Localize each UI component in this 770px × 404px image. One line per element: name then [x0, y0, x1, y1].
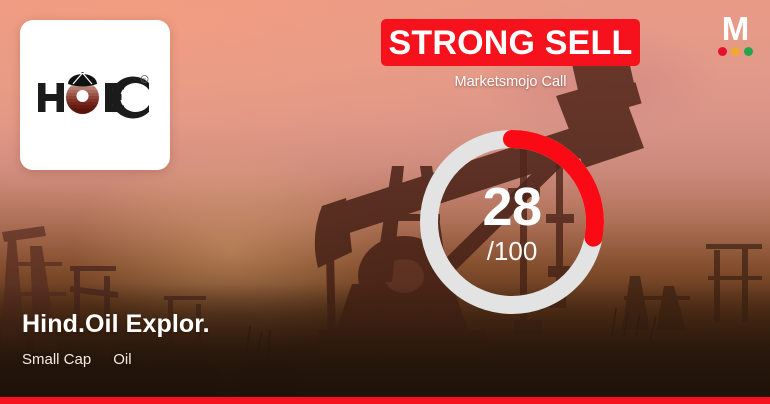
call-badge: STRONG SELL	[381, 19, 640, 66]
brand-green-dot	[744, 47, 753, 56]
bottom-accent-bar	[0, 397, 770, 404]
call-subtitle: Marketsmojo Call	[381, 75, 640, 90]
stock-tag-sector: Oil	[113, 352, 131, 367]
mojo-call-block: STRONG SELL Marketsmojo Call	[381, 19, 640, 90]
marketsmojo-logo: M	[712, 14, 758, 56]
mojo-score-gauge: 28 /100	[412, 122, 612, 322]
gauge-readout: 28 /100	[412, 122, 612, 322]
stock-tag-list: Small Cap Oil	[22, 352, 210, 367]
stock-tag-market-cap: Small Cap	[22, 352, 91, 367]
score-total: /100	[487, 238, 538, 264]
score-value: 28	[482, 180, 541, 234]
stock-summary-card: R STRONG SELL Marketsmojo Call 28 /100 H…	[0, 0, 770, 404]
brand-red-dot	[718, 47, 727, 56]
brand-amber-dot	[731, 47, 740, 56]
hoec-logo-icon: R	[36, 68, 154, 122]
brand-dot-row	[712, 47, 758, 56]
stock-identity: Hind.Oil Explor. Small Cap Oil	[22, 312, 210, 367]
company-logo-card: R	[20, 20, 170, 170]
brand-letter: M	[712, 14, 758, 44]
stock-name: Hind.Oil Explor.	[22, 312, 210, 337]
